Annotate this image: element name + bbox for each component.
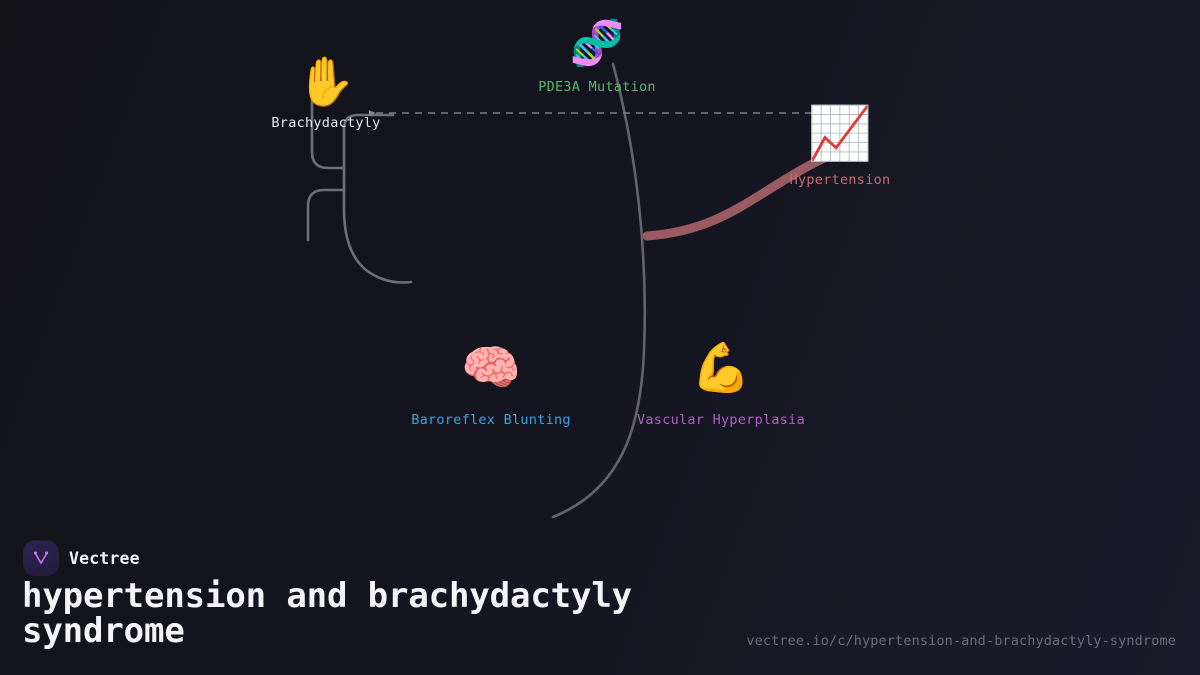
vectree-glyph	[31, 548, 51, 568]
node-baroreflex-blunting[interactable]: 🧠 Baroreflex Blunting	[411, 344, 571, 428]
node-label-hypertension: Hypertension	[790, 172, 891, 188]
node-label-baroreflex-blunting: Baroreflex Blunting	[411, 412, 571, 428]
edge-brachydactyly-spine	[344, 115, 411, 283]
node-vascular-hyperplasia[interactable]: 💪 Vascular Hyperplasia	[637, 344, 805, 428]
chart-increasing-emoji: 📈	[808, 108, 873, 160]
page-title: hypertension and brachydactyly syndrome	[22, 579, 722, 649]
flexed-biceps-emoji: 💪	[691, 344, 751, 392]
brand-name: Vectree	[69, 549, 140, 568]
dna-emoji: 🧬	[570, 22, 625, 66]
node-pde3a-mutation[interactable]: 🧬 PDE3A Mutation	[538, 22, 656, 95]
node-hypertension[interactable]: 📈 Hypertension	[790, 108, 891, 188]
edge-brachydactyly-lower-branch	[308, 190, 344, 240]
branding-footer: Vectree hypertension and brachydactyly s…	[0, 527, 1200, 675]
node-label-vascular-hyperplasia: Vascular Hyperplasia	[637, 412, 805, 428]
edge-pde3a-spine	[553, 64, 645, 517]
brain-emoji: 🧠	[461, 344, 521, 392]
node-label-brachydactyly: Brachydactyly	[271, 115, 380, 131]
infographic-canvas: ✋ Brachydactyly 🧬 PDE3A Mutation 📈 Hyper…	[0, 0, 1200, 675]
raised-hand-emoji: ✋	[296, 58, 356, 106]
site-url: vectree.io/c/hypertension-and-brachydact…	[746, 633, 1176, 649]
brand-row: Vectree	[24, 541, 140, 575]
node-label-pde3a-mutation: PDE3A Mutation	[538, 79, 656, 95]
vectree-logo-icon	[24, 541, 58, 575]
node-brachydactyly[interactable]: ✋ Brachydactyly	[271, 58, 380, 131]
